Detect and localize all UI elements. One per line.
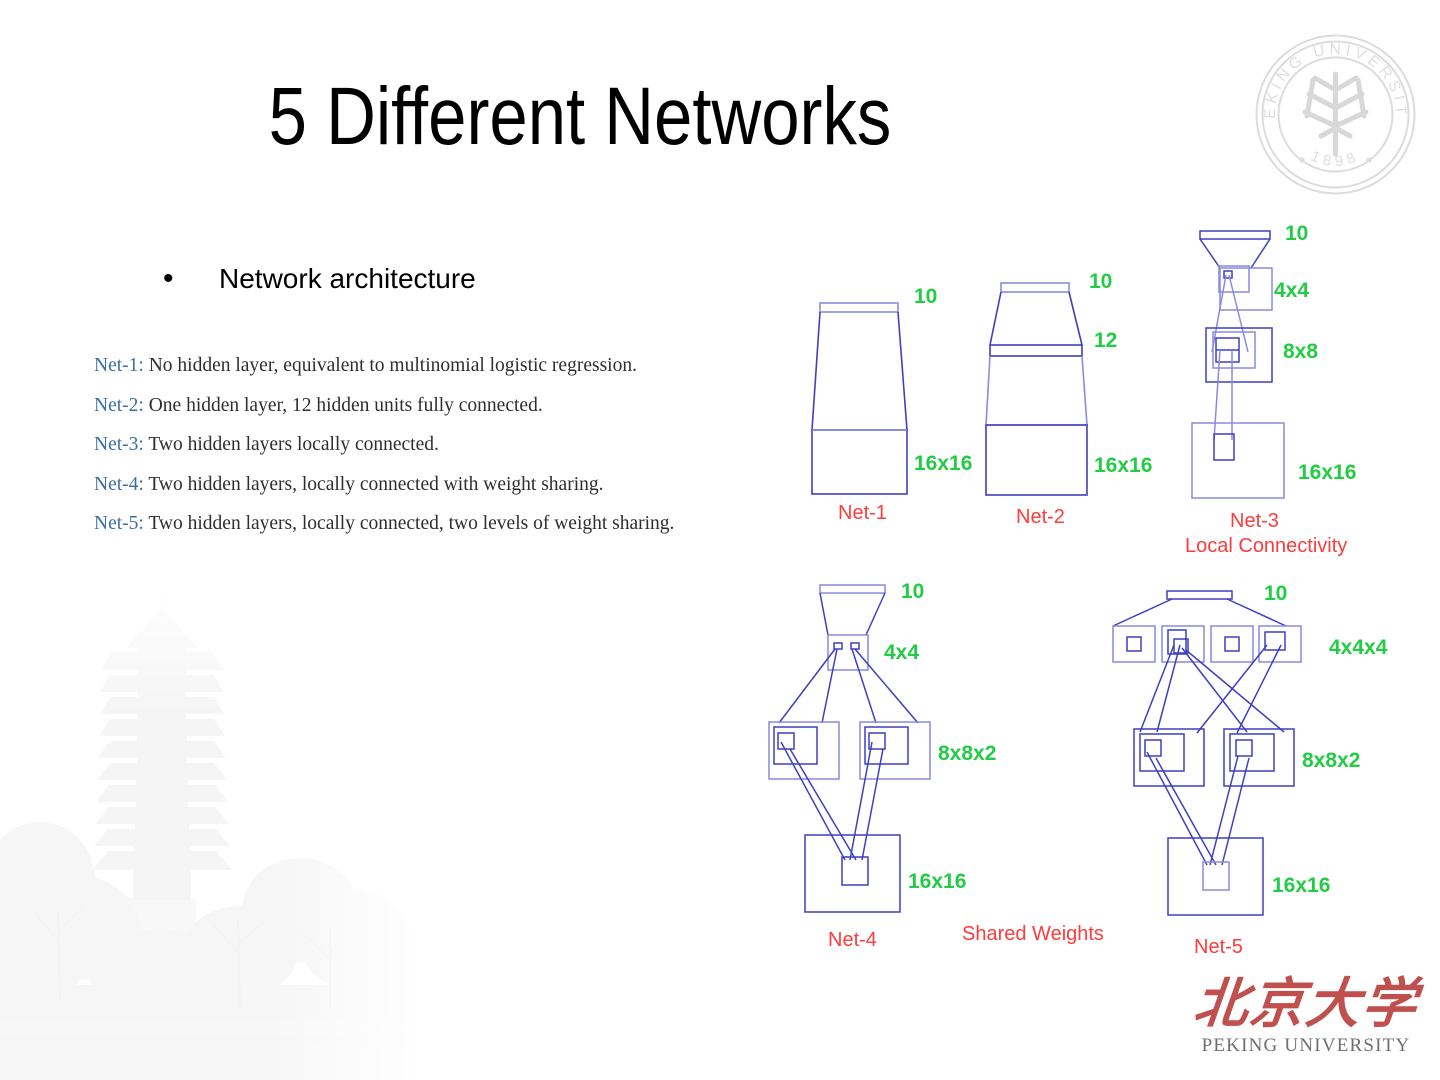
net4-dim-l1: 4x4	[884, 641, 919, 664]
net5-dim-top: 10	[1264, 582, 1287, 605]
net1-dim-bottom: 16x16	[914, 452, 972, 475]
net-description: One hidden layer, 12 hidden units fully …	[149, 395, 543, 416]
list-item: Net-1: No hidden layer, equivalent to mu…	[94, 355, 804, 376]
wordmark-chinese: 北京大学	[1183, 975, 1429, 1033]
net4-caption: Shared Weights	[962, 923, 1104, 945]
net3-dim-l1: 4x4	[1274, 279, 1309, 302]
net4-dim-l2: 8x8x2	[938, 742, 996, 765]
net3-dim-l2: 8x8	[1283, 340, 1318, 363]
net-key: Net-3:	[94, 434, 144, 455]
net3-caption: Local Connectivity	[1185, 535, 1347, 557]
net-description: Two hidden layers locally connected.	[148, 434, 439, 455]
list-item: Net-5: Two hidden layers, locally connec…	[94, 513, 804, 534]
net5-label: Net-5	[1194, 936, 1243, 958]
diagram-net-1	[812, 303, 907, 494]
net-key: Net-1:	[94, 355, 144, 376]
net5-dim-bottom: 16x16	[1272, 874, 1330, 897]
net-key: Net-5:	[94, 513, 144, 534]
net-description: No hidden layer, equivalent to multinomi…	[149, 355, 637, 376]
net3-dim-bottom: 16x16	[1298, 461, 1356, 484]
net4-dim-bottom: 16x16	[908, 870, 966, 893]
net1-dim-top: 10	[914, 285, 937, 308]
list-item: Net-4: Two hidden layers, locally connec…	[94, 474, 804, 495]
wordmark-english: PEKING UNIVERSITY	[1186, 1035, 1426, 1057]
net2-dim-mid: 12	[1094, 329, 1117, 352]
diagram-net-5	[1113, 591, 1301, 915]
list-item: Net-2: One hidden layer, 12 hidden units…	[94, 395, 804, 416]
net2-dim-top: 10	[1089, 270, 1112, 293]
net5-dim-l1: 4x4x4	[1329, 636, 1388, 659]
net3-dim-top: 10	[1285, 222, 1308, 245]
net4-dim-top: 10	[901, 580, 924, 603]
net4-label: Net-4	[828, 929, 877, 951]
net-key: Net-4:	[94, 474, 144, 495]
bullet-network-architecture: • Network architecture	[163, 262, 476, 296]
peking-university-seal-logo: PEKING UNIVERSITY 1898	[1253, 32, 1418, 197]
diagram-net-4	[769, 585, 930, 912]
peking-university-wordmark: 北京大学 PEKING UNIVERSITY	[1186, 975, 1426, 1070]
net1-label: Net-1	[838, 502, 887, 524]
bullet-dot-icon: •	[163, 264, 219, 294]
diagram-net-3	[1192, 231, 1284, 498]
pagoda-watermark-image	[0, 580, 420, 1080]
page-title: 5 Different Networks	[93, 72, 1067, 162]
slide-canvas: PEKING UNIVERSITY 1898 5 Different Netwo…	[0, 0, 1440, 1080]
net3-label: Net-3	[1230, 510, 1279, 532]
diagram-net-2	[986, 283, 1087, 495]
network-description-list: Net-1: No hidden layer, equivalent to mu…	[94, 355, 804, 553]
net-description: Two hidden layers, locally connected, tw…	[148, 513, 674, 534]
bullet-label: Network architecture	[219, 262, 476, 296]
net-key: Net-2:	[94, 395, 144, 416]
net5-dim-l2: 8x8x2	[1302, 749, 1360, 772]
net2-label: Net-2	[1016, 506, 1065, 528]
net-description: Two hidden layers, locally connected wit…	[148, 474, 603, 495]
list-item: Net-3: Two hidden layers locally connect…	[94, 434, 804, 455]
net2-dim-bottom: 16x16	[1094, 454, 1152, 477]
